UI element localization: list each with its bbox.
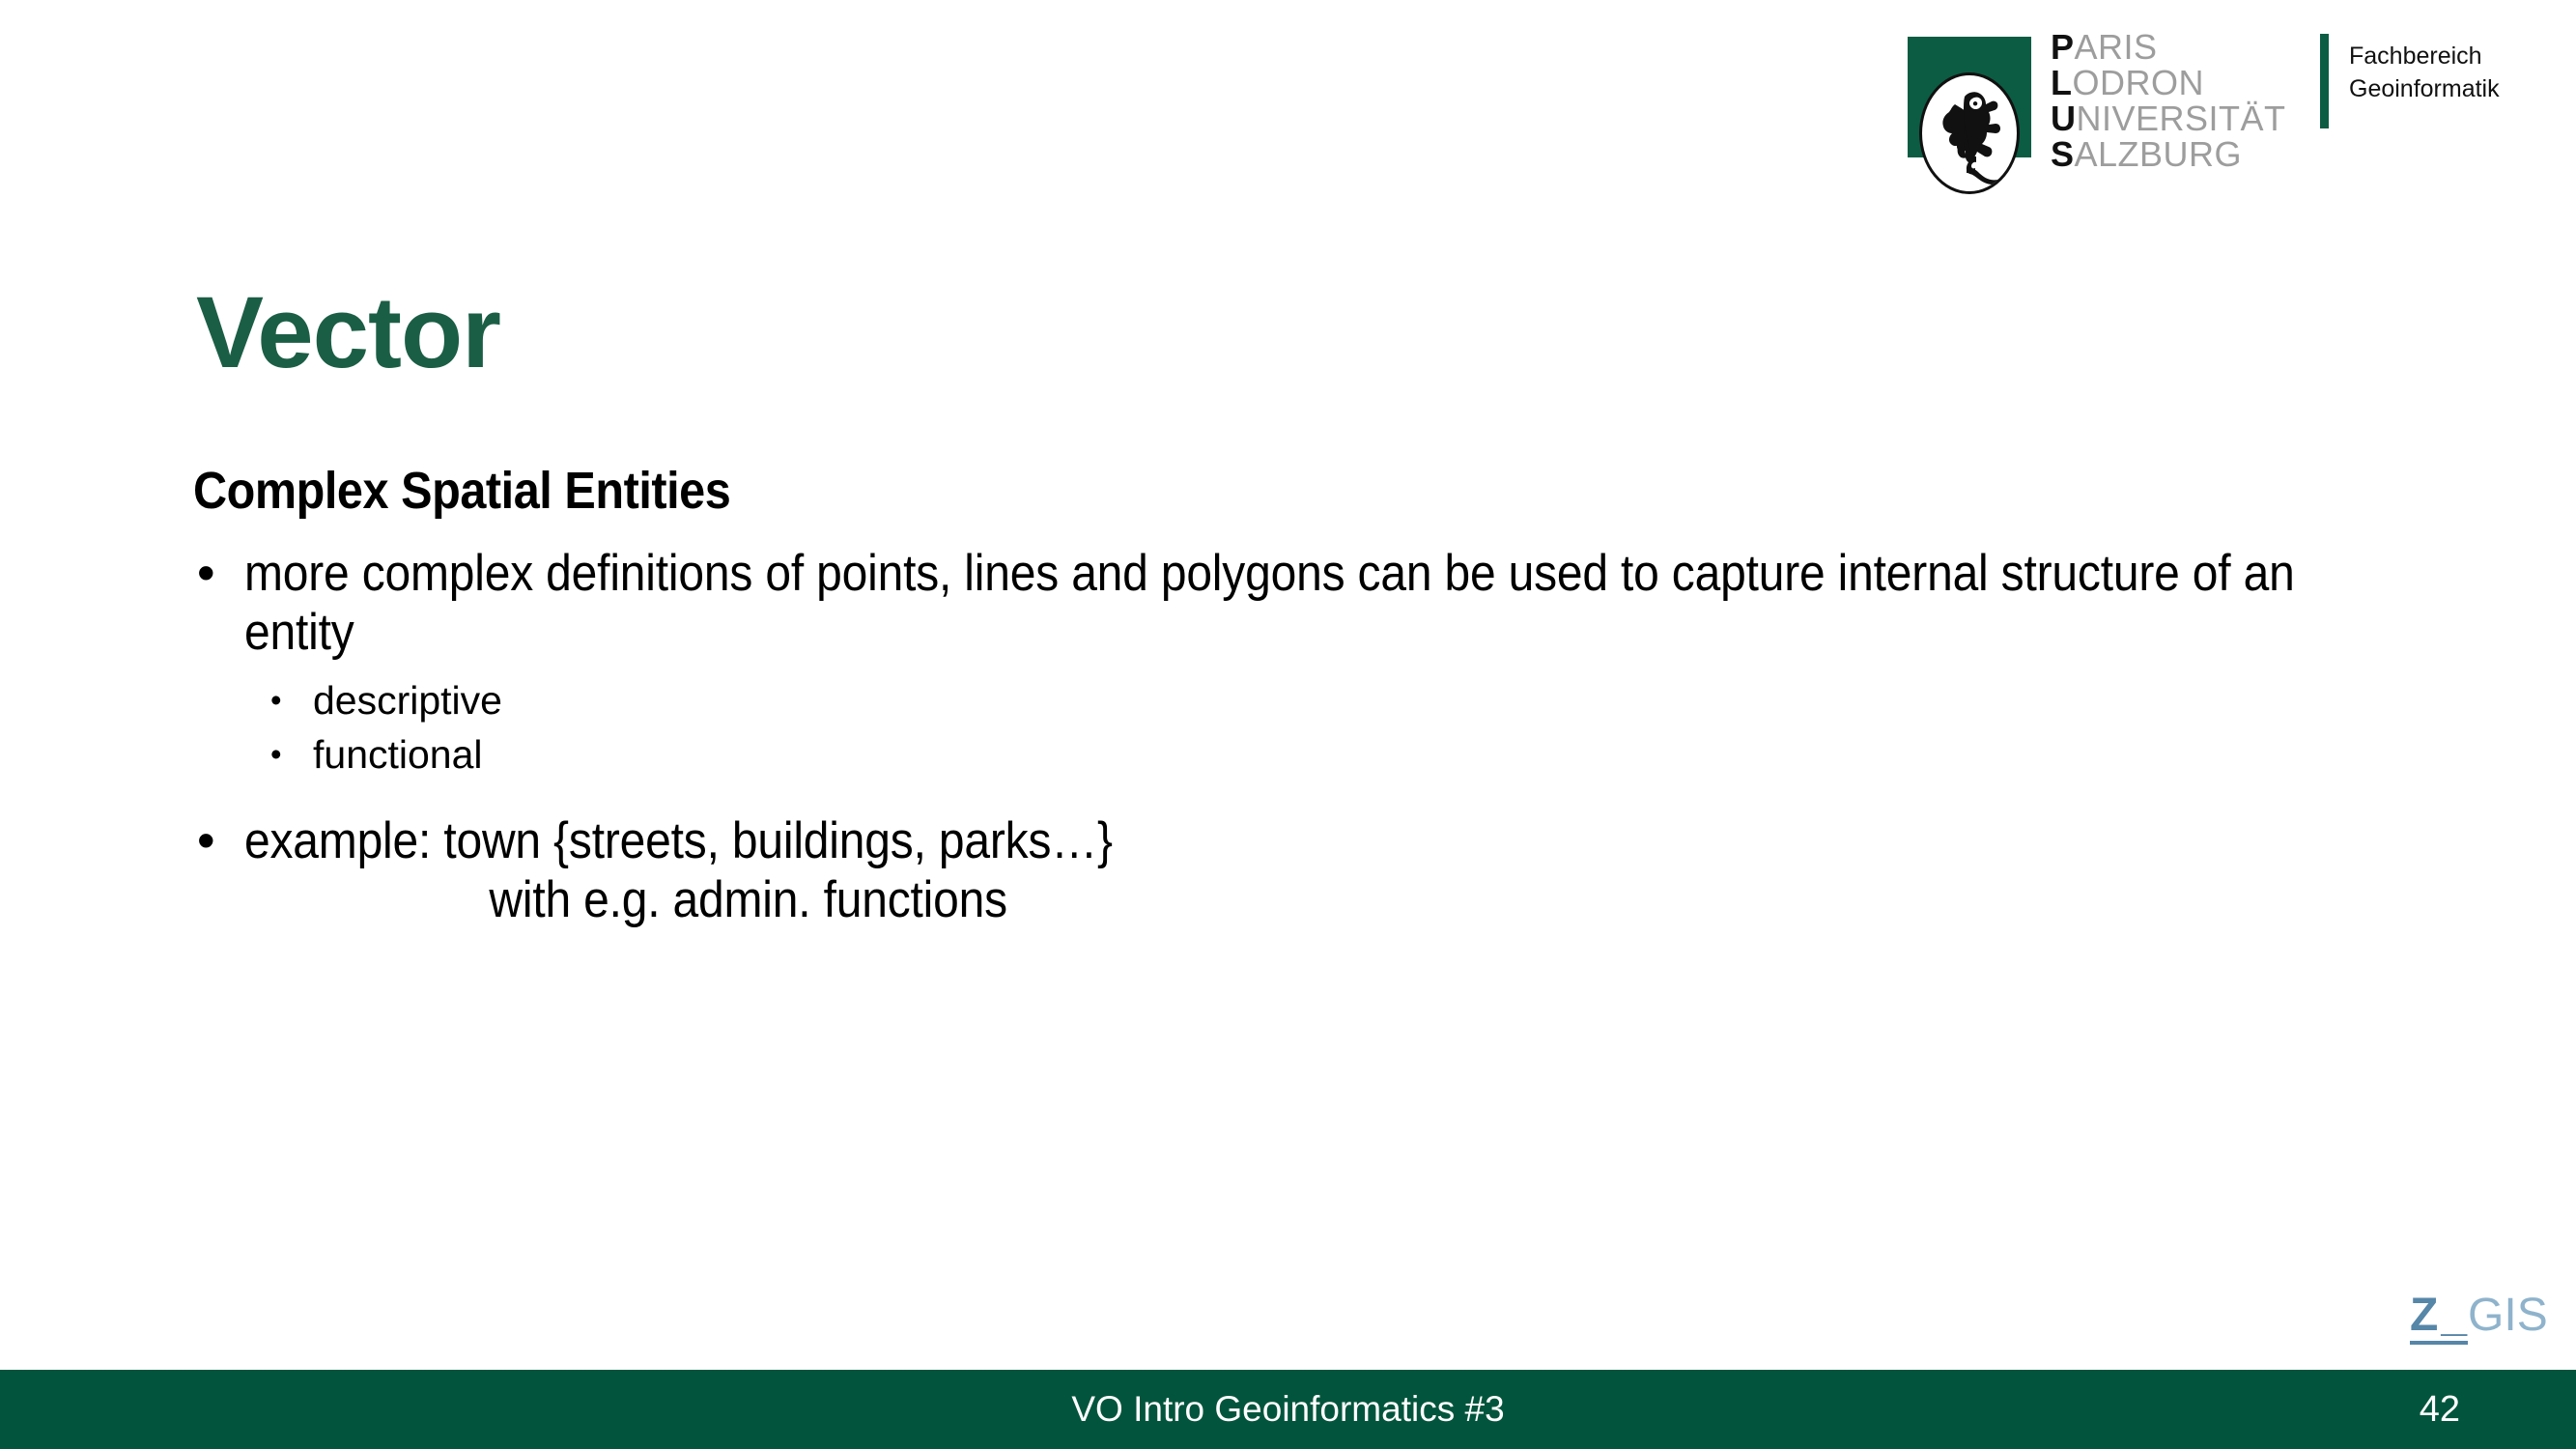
slide-header: PARIS LODRON UNIVERSITÄT SALZBURG Fachbe… <box>0 0 2576 241</box>
plus-rest-lodron: ODRON <box>2073 63 2205 102</box>
plus-wordmark-line-universitaet: UNIVERSITÄT <box>2051 100 2302 136</box>
section-subheading: Complex Spatial Entities <box>193 464 2193 519</box>
plus-initial-u: U <box>2051 99 2077 138</box>
list-item-text: descriptive <box>313 678 502 723</box>
plus-initial-s: S <box>2051 134 2075 174</box>
zgis-logo-underscore: _ <box>2441 1290 2468 1345</box>
list-item: • example: town {streets, buildings, par… <box>193 811 2415 930</box>
plus-initial-p: P <box>2051 27 2075 67</box>
plus-initial-l: L <box>2051 63 2073 102</box>
lion-rampant-emblem-icon <box>1919 72 2020 194</box>
list-item: • functional <box>193 730 2415 779</box>
plus-university-logo: PARIS LODRON UNIVERSITÄT SALZBURG <box>1908 29 2333 222</box>
bullet-marker-icon: • <box>197 811 214 870</box>
bullet-marker-icon: • <box>270 730 282 779</box>
footer-page-number: 42 <box>2420 1370 2460 1449</box>
list-item-text: more complex definitions of points, line… <box>244 544 2415 663</box>
slide-footer: VO Intro Geoinformatics #3 42 <box>0 1370 2576 1449</box>
zgis-logo-z: Z <box>2410 1290 2441 1345</box>
list-item: • more complex definitions of points, li… <box>193 544 2415 663</box>
plus-rest-universitaet: NIVERSITÄT <box>2077 99 2286 138</box>
department-label: Fachbereich Geoinformatik <box>2349 41 2571 106</box>
zgis-logo-gis: GIS <box>2468 1290 2548 1341</box>
list-item-continuation-text: with e.g. admin. functions <box>244 870 2415 929</box>
plus-wordmark-line-paris: PARIS <box>2051 29 2302 65</box>
list-item-text: example: town {streets, buildings, parks… <box>244 811 2415 870</box>
footer-title: VO Intro Geoinformatics #3 <box>0 1370 2576 1449</box>
plus-emblem-background <box>1908 37 2031 157</box>
bullet-marker-icon: • <box>270 676 282 724</box>
header-divider <box>2320 34 2329 128</box>
slide-body: Complex Spatial Entities • more complex … <box>193 464 2415 930</box>
plus-wordmark-line-salzburg: SALZBURG <box>2051 136 2302 172</box>
plus-rest-salzburg: ALZBURG <box>2075 134 2243 174</box>
page-title: Vector <box>196 282 500 384</box>
list-item-text: functional <box>313 732 483 777</box>
zgis-logo: Z_GIS <box>2410 1293 2548 1339</box>
list-item: • descriptive <box>193 676 2415 724</box>
plus-wordmark-line-lodron: LODRON <box>2051 65 2302 100</box>
plus-wordmark: PARIS LODRON UNIVERSITÄT SALZBURG <box>2051 29 2302 172</box>
sub-list: • descriptive • functional <box>193 676 2415 779</box>
bullet-marker-icon: • <box>197 544 214 603</box>
plus-rest-paris: ARIS <box>2075 27 2158 67</box>
